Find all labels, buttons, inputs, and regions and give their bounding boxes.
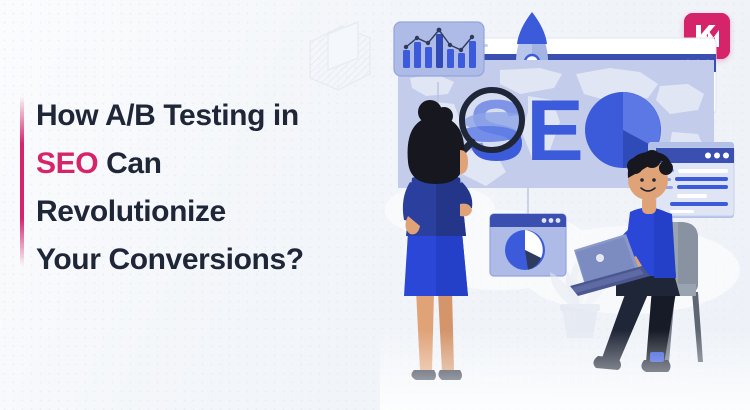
headline-highlight-seo: SEO — [36, 147, 98, 180]
headline-accent-bar — [20, 96, 24, 266]
seo-illustration: SEO — [380, 0, 750, 410]
cube-outline-decoration — [300, 12, 380, 102]
pie-chart-slices — [505, 230, 545, 270]
headline-line-3: Revolutionize — [36, 195, 226, 228]
ground-fade — [380, 330, 750, 410]
seo-blog-banner: How A/B Testing in SEO Can Revolutionize… — [0, 0, 750, 410]
headline-line-4: Your Conversions? — [36, 243, 304, 276]
illustration-canvas: SEO — [380, 0, 750, 410]
pie-chart-browser-card[interactable] — [490, 188, 566, 276]
page-title: How A/B Testing in SEO Can Revolutionize… — [36, 92, 366, 284]
headline-line-1: How A/B Testing in — [36, 99, 299, 132]
headline-line-2-rest: Can — [98, 147, 161, 180]
